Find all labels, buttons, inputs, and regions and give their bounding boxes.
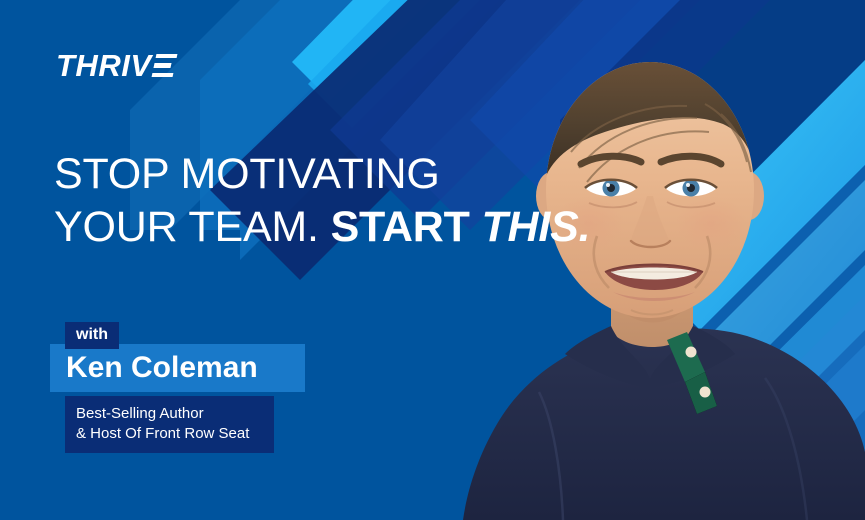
headline: STOP MOTIVATING YOUR TEAM. START THIS. [54,148,590,254]
headline-line-2-light: YOUR TEAM. [54,203,319,251]
speaker-role-line-1: Best-Selling Author [76,404,274,424]
headline-line-1: STOP MOTIVATING [54,148,590,201]
headline-line-2-bold-italic: THIS. [481,203,590,251]
with-badge: with [65,322,119,349]
speaker-role-line-2: & Host Of Front Row Seat [76,424,274,444]
thrive-bars-e-icon [151,54,177,77]
promo-banner: THRIV STOP MOTIVATING YOUR TEAM. START T… [0,0,865,520]
with-label: with [76,327,108,343]
speaker-name-band: Ken Coleman [50,344,305,392]
speaker-role-band: Best-Selling Author & Host Of Front Row … [65,396,274,453]
headline-line-2: YOUR TEAM. START THIS. [54,201,590,254]
speaker-portrait [435,0,865,520]
speaker-name: Ken Coleman [66,353,258,383]
thrive-logo: THRIV [56,48,175,82]
logo-wordmark: THRIV [56,50,152,81]
headline-line-2-bold: START [331,203,470,251]
